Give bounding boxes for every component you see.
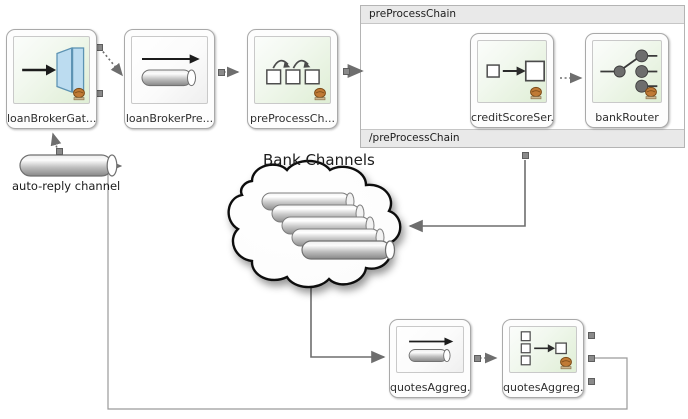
pipe-arrow-icon — [397, 327, 463, 372]
node-body-loanbrokerprechannel — [131, 36, 208, 104]
group-header-label: preProcessChain — [369, 8, 456, 20]
node-label-creditscoreservice: creditScoreSer... — [471, 111, 553, 124]
node-body-quotesaggregatorchannel — [396, 326, 464, 373]
port-autoreply-out[interactable] — [56, 148, 63, 155]
node-preprocesschain[interactable]: preProcessCh... — [247, 29, 338, 129]
port-gateway-out-bottom[interactable] — [96, 90, 103, 97]
auto-reply-channel-pipe[interactable] — [20, 155, 117, 176]
port-prechannel-out[interactable] — [218, 69, 225, 76]
bean-badge-icon — [558, 355, 574, 371]
node-label-bankrouter: bankRouter — [586, 111, 668, 124]
bank-channels-cloud[interactable] — [229, 161, 401, 287]
pipe-arrow-icon — [132, 37, 207, 103]
bean-badge-icon — [312, 86, 328, 102]
node-body-preprocesschain — [254, 36, 331, 104]
port-group-out[interactable] — [522, 152, 529, 159]
bank-channels-label: Bank Channels — [263, 151, 375, 169]
node-body-bankrouter — [592, 40, 662, 103]
connector-gateway-to-prechannel — [100, 48, 122, 75]
node-creditscoreservice[interactable]: creditScoreSer... — [470, 33, 554, 128]
node-loanbrokergateway[interactable]: loanBrokerGat... — [6, 29, 97, 129]
node-body-loanbrokergateway — [13, 36, 90, 104]
connector-group-to-cloud — [410, 160, 525, 226]
node-bankrouter[interactable]: bankRouter — [585, 33, 669, 128]
port-aggregator-bottom[interactable] — [588, 378, 595, 385]
port-gateway-out-top[interactable] — [96, 44, 103, 51]
port-aggregator-top[interactable] — [588, 332, 595, 339]
node-label-quotesaggregatorchannel: quotesAggreg... — [390, 381, 470, 394]
node-label-loanbrokergateway: loanBrokerGat... — [7, 112, 96, 125]
cloud-pipe-stack — [262, 193, 395, 259]
node-label-preprocesschain: preProcessCh... — [248, 112, 337, 125]
bean-badge-icon — [528, 85, 544, 101]
node-body-quotesaggregator — [509, 326, 577, 373]
node-label-quotesaggregator: quotesAggreg... — [503, 381, 583, 394]
connector-cloud-to-quoteschannel — [311, 282, 384, 357]
node-quotesaggregator[interactable]: quotesAggreg... — [502, 319, 584, 398]
group-header: preProcessChain — [361, 6, 684, 24]
auto-reply-channel-label: auto-reply channel — [12, 179, 120, 193]
port-preprocesschain-out[interactable] — [343, 68, 350, 75]
node-body-creditscoreservice — [477, 40, 547, 103]
port-quoteschannel-out[interactable] — [474, 355, 481, 362]
group-footer-label: /preProcessChain — [369, 132, 460, 144]
diagram-canvas: preProcessChain /preProcessChain — [0, 0, 688, 419]
node-quotesaggregatorchannel[interactable]: quotesAggreg... — [389, 319, 471, 398]
node-label-loanbrokerprechannel: loanBrokerPre... — [125, 112, 214, 125]
bean-badge-icon — [71, 86, 87, 102]
node-loanbrokerprechannel[interactable]: loanBrokerPre... — [124, 29, 215, 129]
group-footer: /preProcessChain — [361, 129, 684, 147]
bean-badge-icon — [643, 85, 659, 101]
port-aggregator-right[interactable] — [588, 355, 595, 362]
